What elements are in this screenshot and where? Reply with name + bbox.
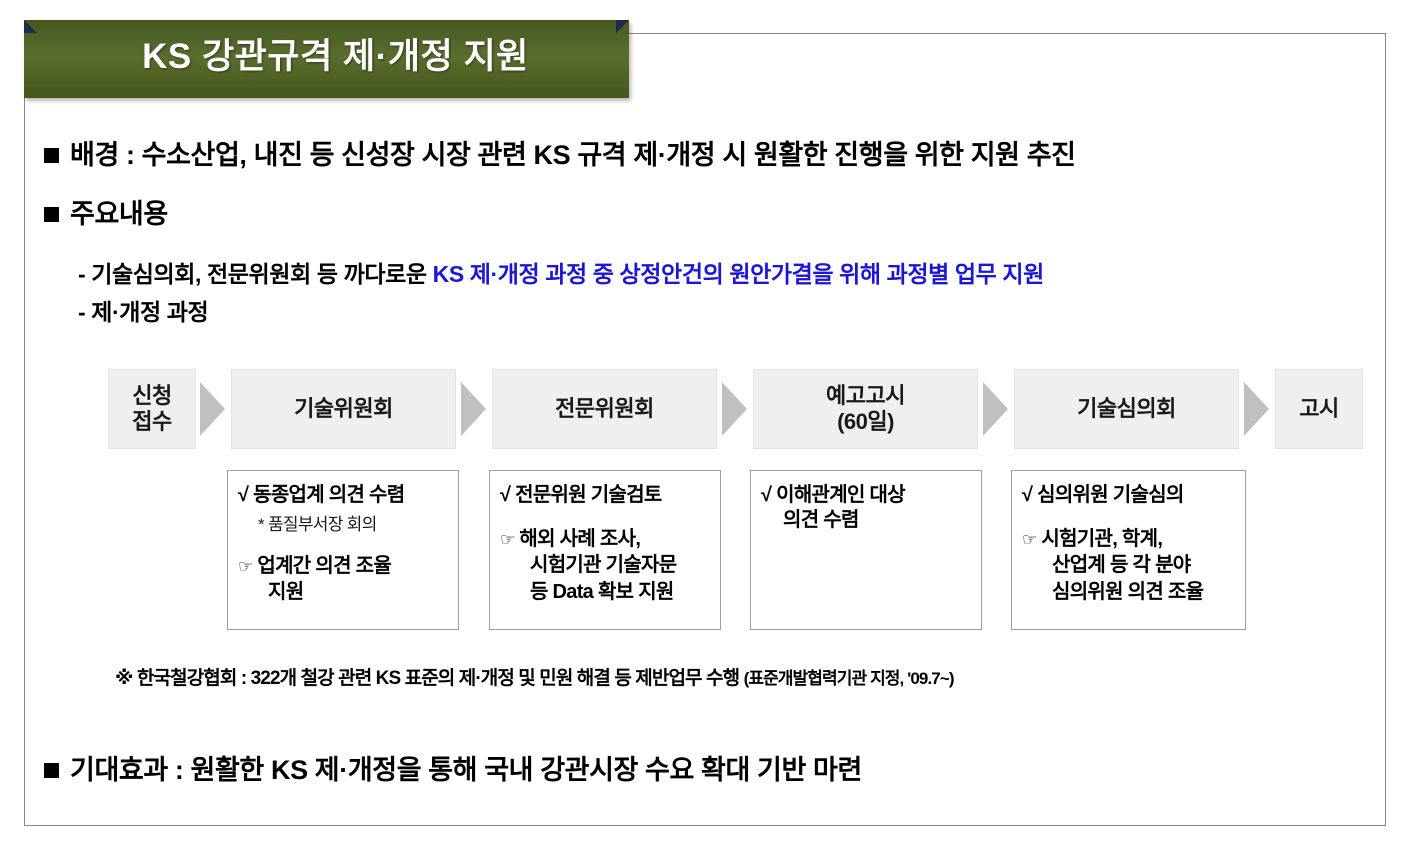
- detail-box-1: √ 전문위원 기술검토 ☞ 해외 사례 조사, 시험기관 기술자문 등 Data…: [489, 470, 721, 630]
- detail-box-3-point-line1: 시험기관, 학계,: [1041, 528, 1162, 550]
- flow-step-1-label: 기술위원회: [294, 396, 393, 422]
- detail-box-0-heading: √ 동종업계 의견 수렴: [238, 483, 450, 508]
- pointing-hand-icon: ☞: [500, 530, 515, 549]
- slide-canvas: KS 강관규격 제·개정 지원 배경 : 수소산업, 내진 등 신성장 시장 관…: [0, 0, 1409, 861]
- detail-box-1-point-line2: 시험기관 기술자문: [500, 552, 712, 578]
- flow-arrow-3-icon: [983, 382, 1008, 436]
- detail-box-3-heading-text: 심의위원 기술심의: [1037, 484, 1183, 506]
- expected-effect-text: 기대효과 : 원활한 KS 제·개정을 통해 국내 강관시장 수요 확대 기반 …: [70, 748, 862, 787]
- footnote-suffix: (표준개발협력기관 지정, '09.7~): [744, 669, 954, 688]
- detail-box-0: √ 동종업계 의견 수렴 * 품질부서장 회의 ☞ 업계간 의견 조율 지원: [227, 470, 459, 630]
- flow-arrow-1-icon: [461, 382, 486, 436]
- detail-box-3-point-line2: 산업계 등 각 분야: [1022, 552, 1237, 578]
- detail-box-0-subnote: * 품질부서장 회의: [238, 510, 450, 535]
- reference-mark-icon: ※: [115, 668, 133, 689]
- check-icon: √: [500, 484, 510, 506]
- detail-box-3: √ 심의위원 기술심의 ☞ 시험기관, 학계, 산업계 등 각 분야 심의위원 …: [1011, 470, 1246, 630]
- detail-box-1-heading-text: 전문위원 기술검토: [515, 484, 661, 506]
- detail-box-3-point: ☞ 시험기관, 학계, 산업계 등 각 분야 심의위원 의견 조율: [1022, 526, 1237, 605]
- detail-box-0-point-line2: 지원: [238, 579, 450, 605]
- detail-box-2-heading-text: 이해관계인 대상: [776, 484, 905, 506]
- expected-effect-bullet-line: 기대효과 : 원활한 KS 제·개정을 통해 국내 강관시장 수요 확대 기반 …: [44, 748, 862, 787]
- footnote: ※ 한국철강협회 : 322개 철강 관련 KS 표준의 제·개정 및 민원 해…: [115, 663, 954, 690]
- flow-arrow-0-icon: [200, 382, 225, 436]
- detail-box-0-point: ☞ 업계간 의견 조율 지원: [238, 553, 450, 606]
- flow-step-0-label: 신청접수: [132, 383, 171, 435]
- flow-step-1: 기술위원회: [231, 369, 456, 449]
- detail-box-1-point-line1: 해외 사례 조사,: [519, 528, 640, 550]
- detail-box-3-point-line3: 심의위원 의견 조율: [1022, 579, 1237, 605]
- detail-box-1-point-line3: 등 Data 확보 지원: [500, 579, 712, 605]
- detail-box-3-heading: √ 심의위원 기술심의: [1022, 483, 1237, 508]
- flow-step-3: 예고고시(60일): [753, 369, 978, 449]
- detail-box-2-heading: √ 이해관계인 대상 의견 수렴: [761, 483, 973, 533]
- process-flow: 신청접수 기술위원회 전문위원회 예고고시(60일) 기술심의회 고시: [0, 0, 1409, 861]
- flow-step-4: 기술심의회: [1014, 369, 1239, 449]
- flow-step-4-label: 기술심의회: [1077, 396, 1176, 422]
- detail-box-2-heading-line2: 의견 수렴: [761, 508, 973, 533]
- pointing-hand-icon: ☞: [238, 557, 253, 576]
- check-icon: √: [1022, 484, 1032, 506]
- flow-step-5: 고시: [1275, 369, 1363, 449]
- flow-step-2: 전문위원회: [492, 369, 717, 449]
- footnote-text: 한국철강협회 : 322개 철강 관련 KS 표준의 제·개정 및 민원 해결 …: [137, 668, 739, 689]
- flow-arrow-4-icon: [1244, 382, 1269, 436]
- flow-step-3-label: 예고고시(60일): [826, 383, 905, 435]
- flow-step-0: 신청접수: [108, 369, 196, 449]
- flow-step-5-label: 고시: [1299, 396, 1338, 422]
- detail-box-0-heading-text: 동종업계 의견 수렴: [253, 484, 404, 506]
- detail-box-1-point: ☞ 해외 사례 조사, 시험기관 기술자문 등 Data 확보 지원: [500, 526, 712, 605]
- detail-box-2: √ 이해관계인 대상 의견 수렴: [750, 470, 982, 630]
- flow-arrow-2-icon: [722, 382, 747, 436]
- pointing-hand-icon: ☞: [1022, 530, 1037, 549]
- check-icon: √: [238, 484, 248, 506]
- detail-box-1-heading: √ 전문위원 기술검토: [500, 483, 712, 508]
- square-bullet-icon: [44, 763, 59, 778]
- detail-box-0-point-line1: 업계간 의견 조율: [257, 555, 391, 577]
- flow-step-2-label: 전문위원회: [555, 396, 654, 422]
- check-icon: √: [761, 484, 771, 506]
